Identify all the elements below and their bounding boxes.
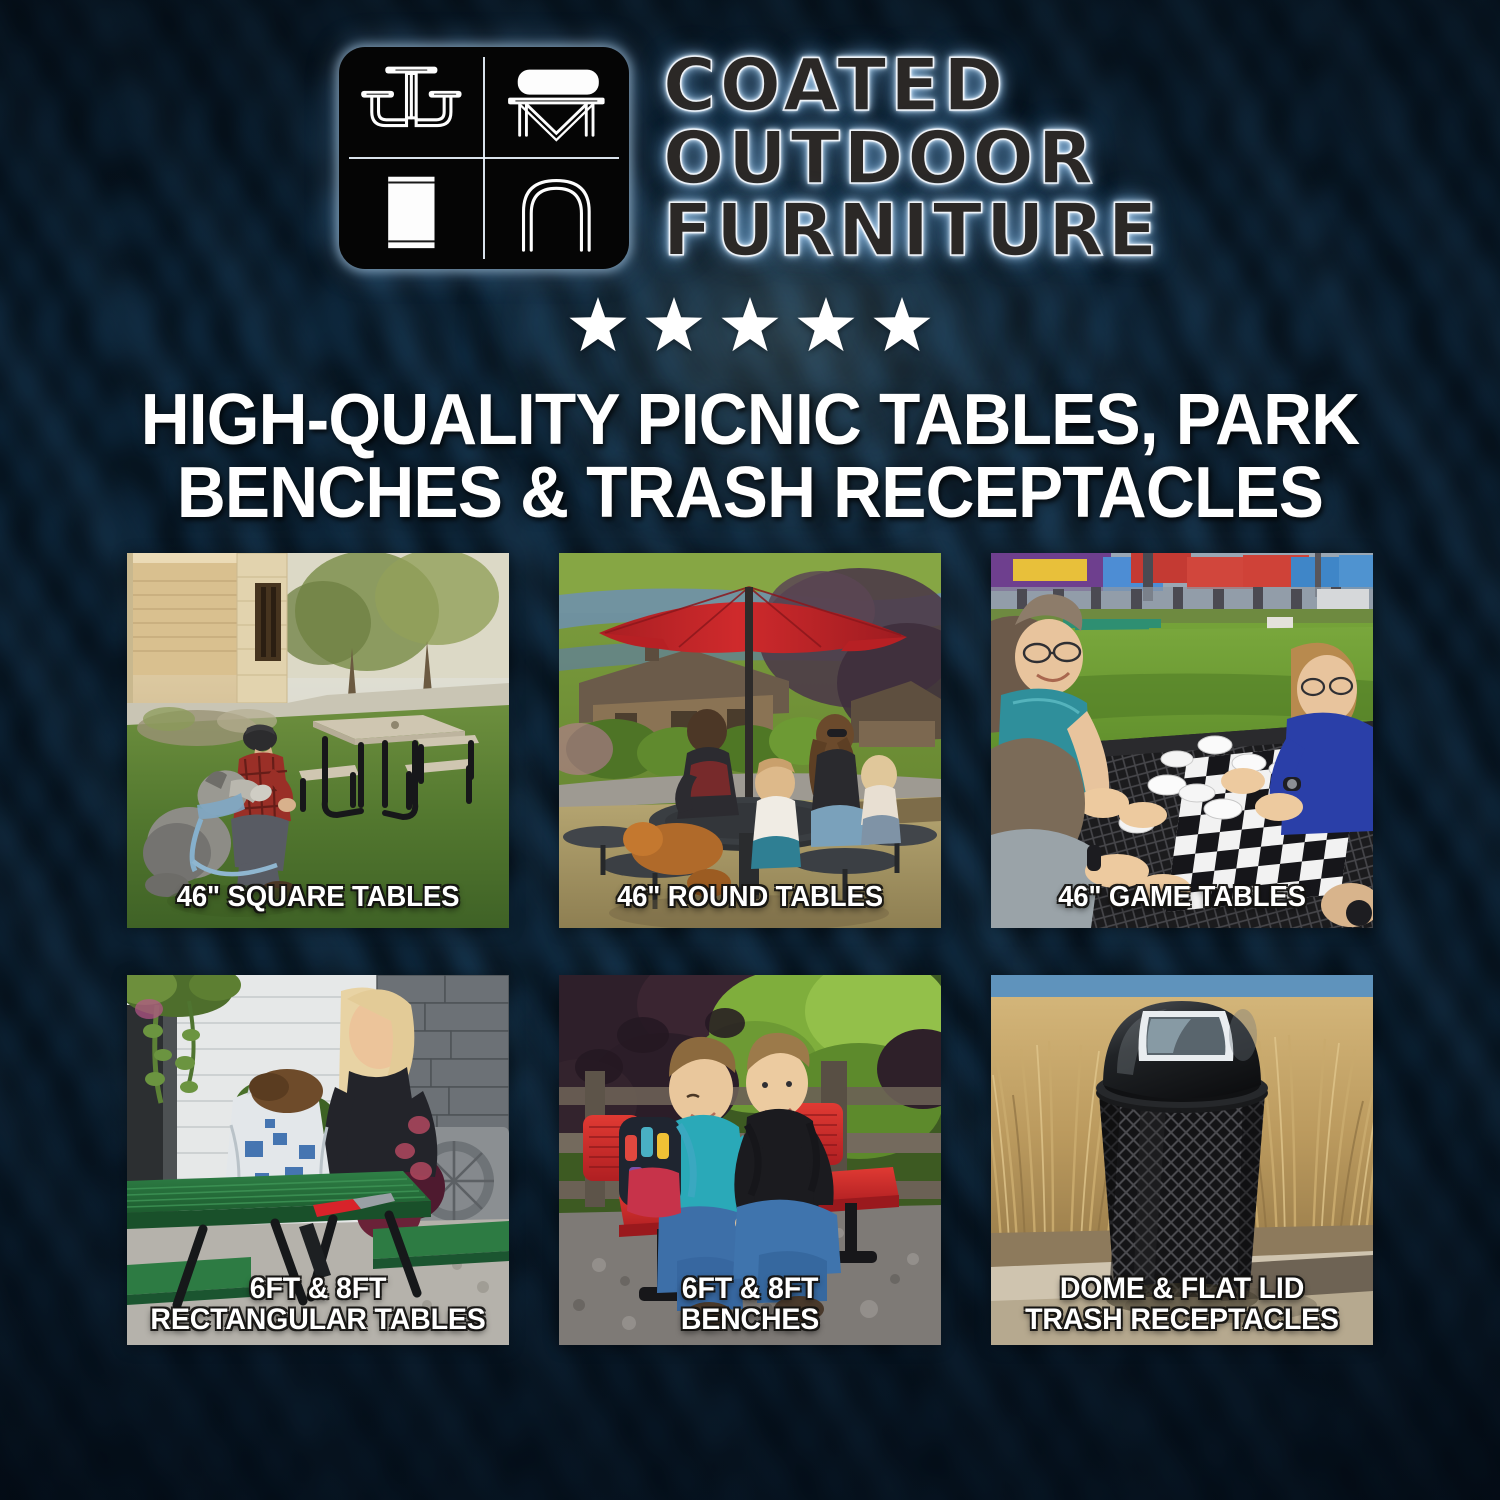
product-card-rectangular-tables[interactable]: 6FT & 8FT RECTANGULAR TABLES xyxy=(127,975,509,1345)
company-logo-mark xyxy=(339,47,629,269)
caption-line-1: 46" SQUARE TABLES xyxy=(144,882,492,912)
star-icon xyxy=(871,296,933,356)
product-caption: 46" SQUARE TABLES xyxy=(137,882,500,912)
product-card-benches[interactable]: 6FT & 8FT BENCHES xyxy=(559,975,941,1345)
round-table-red-umbrella-family-photo xyxy=(559,553,941,928)
bike-rack-arch-icon xyxy=(484,158,629,269)
star-rating xyxy=(0,292,1500,360)
caption-line-2: RECTANGULAR TABLES xyxy=(144,1304,492,1335)
star-icon xyxy=(795,296,857,356)
star-icon xyxy=(567,296,629,356)
caption-line-1: 6FT & 8FT xyxy=(144,1273,492,1304)
star-icon xyxy=(643,296,705,356)
product-card-game-tables[interactable]: 46" GAME TABLES xyxy=(991,553,1373,928)
caption-line-2: BENCHES xyxy=(576,1304,924,1335)
promo-banner: COATED OUTDOOR FURNITURE HIGH-QUALITY PI… xyxy=(0,0,1500,1500)
brand-line-coated: COATED xyxy=(663,50,1161,121)
trash-receptacle-icon xyxy=(339,158,484,269)
caption-line-1: 46" GAME TABLES xyxy=(1008,882,1356,912)
product-category-grid: 46" SQUARE TABLES xyxy=(127,553,1373,1345)
product-caption: 6FT & 8FT BENCHES xyxy=(569,1273,932,1335)
product-caption: 46" GAME TABLES xyxy=(1001,882,1364,912)
headline-line-1: HIGH-QUALITY PICNIC TABLES, PARK xyxy=(101,384,1398,457)
caption-line-1: 46" ROUND TABLES xyxy=(576,882,924,912)
brand-line-outdoor: OUTDOOR xyxy=(663,123,1161,194)
product-card-round-tables[interactable]: 46" ROUND TABLES xyxy=(559,553,941,928)
brand-header: COATED OUTDOOR FURNITURE xyxy=(0,0,1500,250)
product-caption: DOME & FLAT LID TRASH RECEPTACLES xyxy=(1001,1273,1364,1335)
product-caption: 6FT & 8FT RECTANGULAR TABLES xyxy=(137,1273,500,1335)
product-card-square-tables[interactable]: 46" SQUARE TABLES xyxy=(127,553,509,928)
caption-line-1: 6FT & 8FT xyxy=(576,1273,924,1304)
brand-line-furniture: FURNITURE xyxy=(663,195,1161,266)
star-icon xyxy=(719,296,781,356)
brand-wordmark: COATED OUTDOOR FURNITURE xyxy=(663,50,1161,266)
bench-icon xyxy=(484,47,629,158)
product-caption: 46" ROUND TABLES xyxy=(569,882,932,912)
caption-line-2: TRASH RECEPTACLES xyxy=(1008,1304,1356,1335)
page-title: HIGH-QUALITY PICNIC TABLES, PARK BENCHES… xyxy=(45,384,1455,531)
caption-line-1: DOME & FLAT LID xyxy=(1008,1273,1356,1304)
square-picnic-table-with-dog-photo xyxy=(127,553,509,928)
product-card-trash-receptacles[interactable]: DOME & FLAT LID TRASH RECEPTACLES xyxy=(991,975,1373,1345)
headline-line-2: BENCHES & TRASH RECEPTACLES xyxy=(101,457,1398,530)
checkerboard-game-table-photo xyxy=(991,553,1373,928)
picnic-table-icon xyxy=(339,47,484,158)
